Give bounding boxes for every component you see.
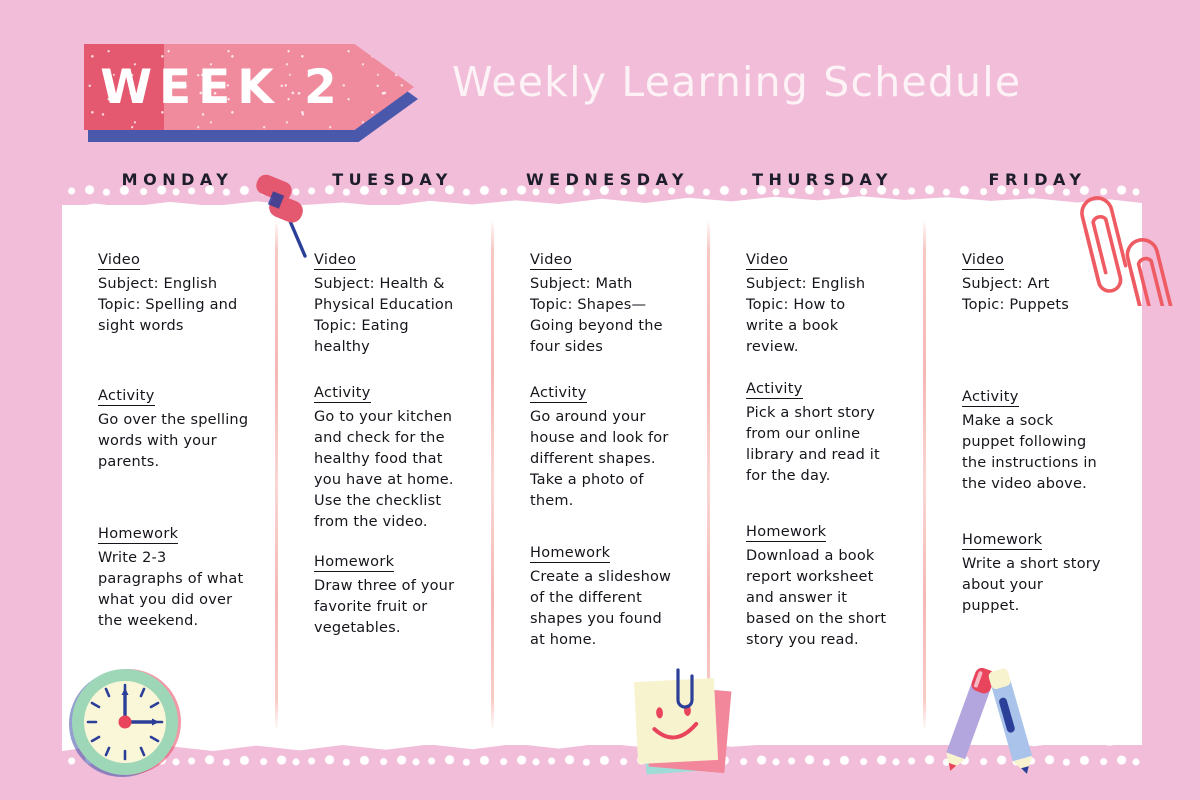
- text-line: healthy food that: [314, 449, 468, 470]
- text-line: what you did over: [98, 590, 252, 611]
- block-gap: [962, 322, 1116, 386]
- block-body-video: Subject: English Topic: Spelling and sig…: [98, 274, 252, 337]
- block-body-homework: Create a slideshow of the different shap…: [530, 567, 684, 651]
- clock-icon: [62, 662, 188, 784]
- block-title-video: Video: [530, 252, 572, 270]
- day-column-tuesday: Video Subject: Health & Physical Educati…: [278, 205, 494, 745]
- block-homework: Homework Download a book report workshee…: [746, 521, 900, 651]
- week-badge: WEEK 2: [84, 44, 414, 130]
- text-line: Write 2-3: [98, 548, 252, 569]
- text-line: four sides: [530, 337, 684, 358]
- text-line: Topic: Shapes—: [530, 295, 684, 316]
- paperclips-icon: [1052, 186, 1174, 306]
- block-gap: [746, 493, 900, 521]
- text-line: about your: [962, 575, 1116, 596]
- text-line: puppet following: [962, 432, 1116, 453]
- text-line: Write a short story: [962, 554, 1116, 575]
- text-line: words with your: [98, 431, 252, 452]
- text-line: Draw three of your: [314, 576, 468, 597]
- text-line: Pick a short story: [746, 403, 900, 424]
- block-activity: Activity Go to your kitchen and check fo…: [314, 382, 468, 533]
- block-gap: [98, 479, 252, 523]
- block-body-activity: Pick a short story from our online libra…: [746, 403, 900, 487]
- text-line: Going beyond the: [530, 316, 684, 337]
- text-line: for the day.: [746, 466, 900, 487]
- block-video: Video Subject: Health & Physical Educati…: [314, 249, 468, 358]
- block-video: Video Subject: Math Topic: Shapes— Going…: [530, 249, 684, 358]
- text-line: sight words: [98, 316, 252, 337]
- block-title-video: Video: [98, 252, 140, 270]
- block-title-homework: Homework: [962, 532, 1042, 550]
- text-line: and check for the: [314, 428, 468, 449]
- text-line: Subject: English: [746, 274, 900, 295]
- week-label: WEEK 2: [84, 44, 360, 130]
- text-line: Go around your: [530, 407, 684, 428]
- text-line: story you read.: [746, 630, 900, 651]
- block-title-homework: Homework: [314, 554, 394, 572]
- block-gap: [314, 539, 468, 551]
- block-body-activity: Make a sock puppet following the instruc…: [962, 411, 1116, 495]
- text-line: of the different: [530, 588, 684, 609]
- block-homework: Homework Create a slideshow of the diffe…: [530, 542, 684, 651]
- text-line: vegetables.: [314, 618, 468, 639]
- text-line: shapes you found: [530, 609, 684, 630]
- text-line: the instructions in: [962, 453, 1116, 474]
- block-title-activity: Activity: [314, 385, 371, 403]
- block-body-activity: Go to your kitchen and check for the hea…: [314, 407, 468, 533]
- text-line: write a book: [746, 316, 900, 337]
- block-video: Video Subject: English Topic: How to wri…: [746, 249, 900, 358]
- text-line: paragraphs of what: [98, 569, 252, 590]
- sticky-note-icon: [618, 662, 754, 784]
- block-gap: [530, 518, 684, 542]
- text-line: Go over the spelling: [98, 410, 252, 431]
- text-line: Topic: Eating: [314, 316, 468, 337]
- schedule-poster: WEEK 2 Weekly Learning Schedule MONDAY T…: [0, 0, 1200, 800]
- block-body-homework: Download a book report worksheet and ans…: [746, 546, 900, 651]
- text-line: Subject: Math: [530, 274, 684, 295]
- text-line: the video above.: [962, 474, 1116, 495]
- block-homework: Homework Draw three of your favorite fru…: [314, 551, 468, 639]
- text-line: healthy: [314, 337, 468, 358]
- text-line: puppet.: [962, 596, 1116, 617]
- text-line: Make a sock: [962, 411, 1116, 432]
- block-title-activity: Activity: [962, 389, 1019, 407]
- day-header-thursday: THURSDAY: [715, 170, 930, 200]
- text-line: Go to your kitchen: [314, 407, 468, 428]
- text-line: you have at home.: [314, 470, 468, 491]
- text-line: the weekend.: [98, 611, 252, 632]
- text-line: parents.: [98, 452, 252, 473]
- text-line: house and look for: [530, 428, 684, 449]
- text-line: library and read it: [746, 445, 900, 466]
- block-body-homework: Draw three of your favorite fruit or veg…: [314, 576, 468, 639]
- block-title-homework: Homework: [530, 545, 610, 563]
- block-body-activity: Go over the spelling words with your par…: [98, 410, 252, 473]
- text-line: different shapes.: [530, 449, 684, 470]
- block-gap: [98, 343, 252, 385]
- text-line: at home.: [530, 630, 684, 651]
- text-line: and answer it: [746, 588, 900, 609]
- block-title-homework: Homework: [746, 524, 826, 542]
- day-header-row: MONDAY TUESDAY WEDNESDAY THURSDAY FRIDAY: [70, 170, 1145, 200]
- text-line: Subject: Health &: [314, 274, 468, 295]
- block-body-homework: Write 2-3 paragraphs of what what you di…: [98, 548, 252, 632]
- text-line: Topic: Spelling and: [98, 295, 252, 316]
- block-gap: [746, 364, 900, 378]
- page-title: Weekly Learning Schedule: [452, 58, 1021, 106]
- text-line: Create a slideshow: [530, 567, 684, 588]
- day-header-wednesday: WEDNESDAY: [500, 170, 715, 200]
- block-gap: [314, 364, 468, 382]
- pushpin-icon: [243, 168, 329, 258]
- text-line: Topic: How to: [746, 295, 900, 316]
- block-body-video: Subject: Math Topic: Shapes— Going beyon…: [530, 274, 684, 358]
- text-line: report worksheet: [746, 567, 900, 588]
- block-title-activity: Activity: [530, 385, 587, 403]
- text-line: favorite fruit or: [314, 597, 468, 618]
- block-title-activity: Activity: [746, 381, 803, 399]
- text-line: from our online: [746, 424, 900, 445]
- pens-icon: [922, 662, 1058, 784]
- block-body-activity: Go around your house and look for differ…: [530, 407, 684, 512]
- text-line: from the video.: [314, 512, 468, 533]
- poster-header: WEEK 2 Weekly Learning Schedule: [0, 0, 1200, 160]
- block-homework: Homework Write 2-3 paragraphs of what wh…: [98, 523, 252, 632]
- block-video: Video Subject: English Topic: Spelling a…: [98, 249, 252, 337]
- block-title-video: Video: [962, 252, 1004, 270]
- text-line: Physical Education: [314, 295, 468, 316]
- block-activity: Activity Go around your house and look f…: [530, 382, 684, 512]
- block-title-video: Video: [746, 252, 788, 270]
- text-line: Use the checklist: [314, 491, 468, 512]
- block-activity: Activity Pick a short story from our onl…: [746, 378, 900, 487]
- block-gap: [530, 364, 684, 382]
- block-homework: Homework Write a short story about your …: [962, 529, 1116, 617]
- block-title-homework: Homework: [98, 526, 178, 544]
- text-line: them.: [530, 491, 684, 512]
- block-gap: [962, 501, 1116, 529]
- block-activity: Activity Make a sock puppet following th…: [962, 386, 1116, 495]
- block-body-homework: Write a short story about your puppet.: [962, 554, 1116, 617]
- block-title-activity: Activity: [98, 388, 155, 406]
- text-line: based on the short: [746, 609, 900, 630]
- block-activity: Activity Go over the spelling words with…: [98, 385, 252, 473]
- block-body-video: Subject: English Topic: How to write a b…: [746, 274, 900, 358]
- text-line: Download a book: [746, 546, 900, 567]
- text-line: review.: [746, 337, 900, 358]
- text-line: Subject: English: [98, 274, 252, 295]
- block-body-video: Subject: Health & Physical Education Top…: [314, 274, 468, 358]
- text-line: Take a photo of: [530, 470, 684, 491]
